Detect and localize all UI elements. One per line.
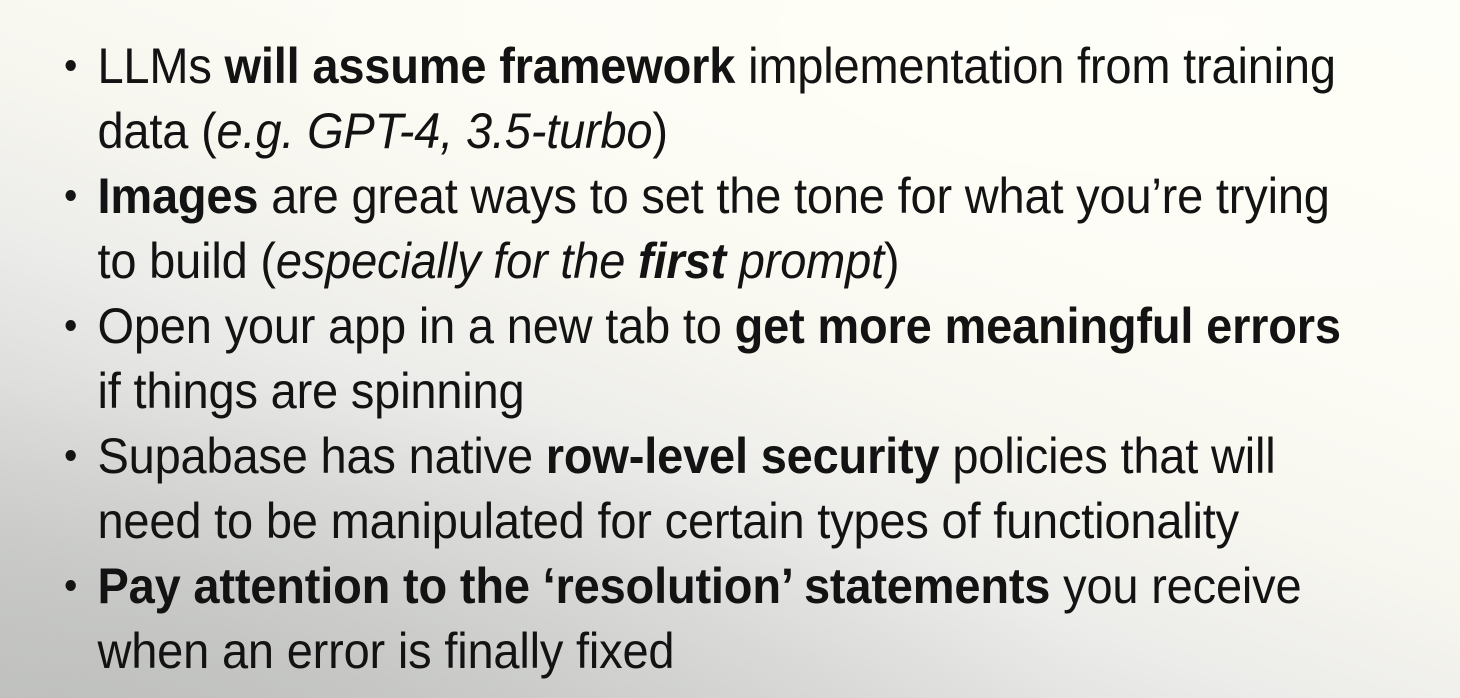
text-run-italic: especially for the: [276, 233, 638, 289]
text-run-regular: LLMs: [97, 38, 224, 94]
text-run-regular: ): [652, 103, 667, 159]
text-run-regular: Supabase has native: [97, 428, 545, 484]
bullet-open-app-new-tab: Open your app in a new tab to get more m…: [58, 294, 1355, 424]
bullet-images-set-the-tone: Images are great ways to set the tone fo…: [58, 164, 1355, 294]
bullet-text: Open your app in a new tab to get more m…: [97, 294, 1355, 424]
slide-canvas: LLMs will assume framework implementatio…: [0, 0, 1460, 698]
bullet-point-icon: [66, 320, 76, 331]
text-run-bold-italic: first: [638, 233, 726, 289]
bullet-point-icon: [66, 580, 76, 591]
bullet-resolution-statements: Pay attention to the ‘resolution’ statem…: [58, 554, 1355, 684]
bullet-text: Supabase has native row-level security p…: [97, 424, 1355, 554]
text-run-regular: Open your app in a new tab to: [97, 298, 734, 354]
bullet-text: Pay attention to the ‘resolution’ statem…: [97, 554, 1355, 684]
bullet-text: LLMs will assume framework implementatio…: [97, 34, 1355, 164]
text-run-bold: will assume framework: [225, 38, 736, 94]
bullet-text: Images are great ways to set the tone fo…: [97, 164, 1355, 294]
bullet-llms-assume-framework: LLMs will assume framework implementatio…: [58, 34, 1355, 164]
bullet-point-icon: [66, 60, 76, 71]
text-run-regular: ): [884, 233, 899, 289]
text-run-bold: row-level security: [546, 428, 940, 484]
text-run-italic: prompt: [726, 233, 884, 289]
text-run-bold: Pay attention to the ‘resolution’ statem…: [97, 558, 1050, 614]
bullet-list: LLMs will assume framework implementatio…: [0, 0, 1460, 684]
text-run-bold: get more meaningful errors: [735, 298, 1341, 354]
bullet-point-icon: [66, 190, 76, 201]
text-run-italic: e.g. GPT-4, 3.5-turbo: [217, 103, 653, 159]
bullet-supabase-row-level-security: Supabase has native row-level security p…: [58, 424, 1355, 554]
text-run-bold: Images: [97, 168, 258, 224]
bullet-point-icon: [66, 450, 76, 461]
